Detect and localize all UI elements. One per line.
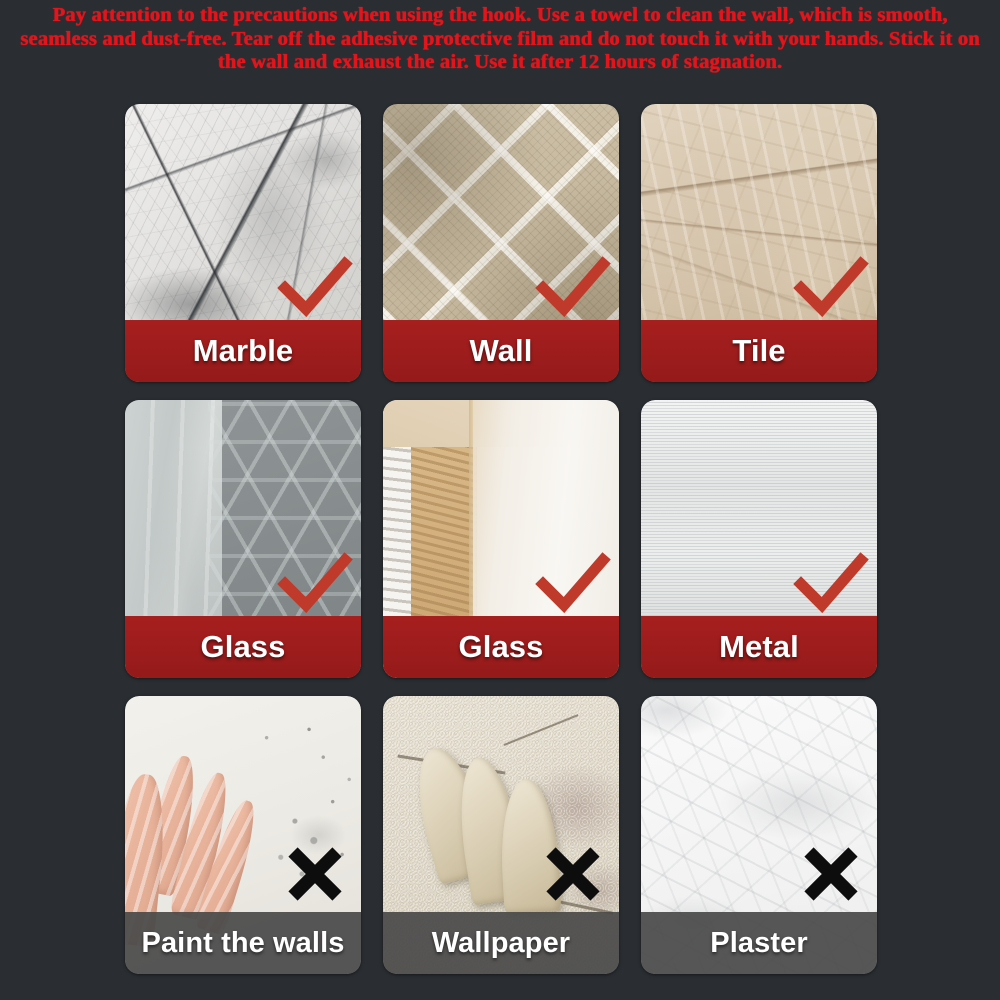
card-label-glass-panels: Glass (125, 616, 361, 678)
card-label-text: Marble (193, 333, 294, 369)
surface-card-glass-interior[interactable]: Glass (383, 400, 619, 678)
card-label-text: Wallpaper (432, 927, 570, 960)
surface-card-plaster[interactable]: Plaster (641, 696, 877, 974)
surface-card-marble[interactable]: Marble (125, 104, 361, 382)
card-label-metal: Metal (641, 616, 877, 678)
card-label-wall: Wall (383, 320, 619, 382)
card-label-text: Wall (470, 333, 533, 369)
surface-card-tile[interactable]: Tile (641, 104, 877, 382)
surface-card-wallpaper[interactable]: Wallpaper (383, 696, 619, 974)
surface-compatibility-grid: Marble Wall Tile Glass (125, 104, 877, 994)
card-label-marble: Marble (125, 320, 361, 382)
card-label-plaster: Plaster (641, 912, 877, 974)
precautions-headline: Pay attention to the precautions when us… (0, 4, 1000, 75)
surface-card-glass-panels[interactable]: Glass (125, 400, 361, 678)
card-label-text: Tile (732, 333, 785, 369)
card-label-tile: Tile (641, 320, 877, 382)
surface-card-paint-the-walls[interactable]: Paint the walls (125, 696, 361, 974)
card-label-text: Metal (719, 629, 799, 665)
card-label-paint-the-walls: Paint the walls (125, 912, 361, 974)
card-label-text: Paint the walls (142, 927, 345, 960)
surface-card-wall[interactable]: Wall (383, 104, 619, 382)
card-label-wallpaper: Wallpaper (383, 912, 619, 974)
card-label-text: Glass (201, 629, 286, 665)
card-label-glass-interior: Glass (383, 616, 619, 678)
card-label-text: Glass (459, 629, 544, 665)
surface-card-metal[interactable]: Metal (641, 400, 877, 678)
card-label-text: Plaster (710, 927, 807, 960)
